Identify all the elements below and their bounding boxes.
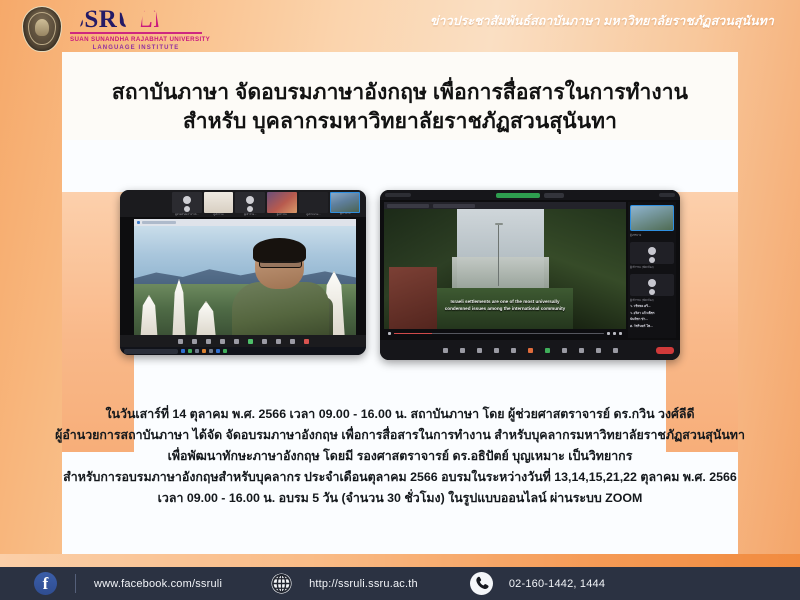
zoom-participant-name: ผู้บรรยาย (331, 212, 359, 218)
poster-title-line-2: สำหรับ บุคลากรมหาวิทยาลัยราชภัฏสวนสุนันท… (0, 107, 800, 136)
logo-subtitle-institute: LANGUAGE INSTITUTE (70, 45, 202, 51)
ssru-language-institute-logo: SSRULI SUAN SUNANDHA RAJABHAT UNIVERSITY… (22, 6, 210, 52)
participant-name: ว. วชิรพล ศรี... (630, 304, 674, 309)
end-meeting-icon (304, 339, 309, 344)
poster-title: สถาบันภาษา จัดอบรมภาษาอังกฤษ เพื่อการสื่… (0, 78, 800, 136)
windows-taskbar (120, 347, 366, 355)
stop-share-pill (544, 193, 564, 198)
participant-name: ผู้เข้าร่วม (ปิดกล้อง) (630, 265, 674, 270)
participant-name: ผู้บรรยาย (630, 233, 674, 238)
globe-icon (270, 572, 293, 595)
header-banner-text: ข่าวประชาสัมพันธ์สถาบันภาษา มหาวิทยาลัยร… (430, 12, 774, 31)
zoom-screen-share-screenshot: Israeli settlements are one of the most … (380, 190, 680, 360)
mic-icon (178, 339, 183, 344)
record-icon (262, 339, 267, 344)
logo-wordmark-primary: SSRU (70, 6, 136, 33)
eyeglasses-icon (259, 260, 302, 269)
zoom-meeting-speaker-view-screenshot: ผู้ช่วยศาสตราจารย์... ผู้เข้าร่วม ผู้เข้… (120, 190, 366, 355)
logo-subtitle-university: SUAN SUNANDHA RAJABHAT UNIVERSITY (70, 36, 210, 43)
participant-self-video (630, 205, 674, 231)
footer-website-text: http://ssruli.ssru.ac.th (309, 578, 418, 590)
body-line: ในวันเสาร์ที่ 14 ตุลาคม พ.ศ. 2566 เวลา 0… (8, 404, 792, 425)
video-hillside-town (452, 257, 549, 288)
video-subtitle-line-2: condemned issues among the international… (403, 306, 606, 312)
poster-header: SSRULI SUAN SUNANDHA RAJABHAT UNIVERSITY… (0, 0, 800, 52)
footer-website[interactable]: http://ssruli.ssru.ac.th (270, 567, 418, 600)
participant-tile (630, 274, 674, 296)
settings-icon (613, 332, 616, 335)
footer-facebook-text: www.facebook.com/ssruli (94, 578, 222, 590)
participant-name: ว. อริสา แก้วเพ็ชร (630, 311, 674, 316)
participant-tile (630, 242, 674, 264)
participant-name: ศ. วัชรินทร์ โพ... (630, 324, 674, 329)
zoom-participant-thumb: ผู้เข้าร่วม (204, 192, 234, 213)
logo-wordmark: SSRULI SUAN SUNANDHA RAJABHAT UNIVERSITY… (70, 6, 210, 51)
zoom-participant-thumb: ผู้เข้าร่วม... (235, 192, 265, 213)
zoom-participant-thumb: ผู้เข้าอบรม... (299, 192, 329, 213)
participant-name: นันทิชา ขำ... (630, 317, 674, 322)
taskbar-app-icon (181, 349, 185, 353)
ssru-university-crest-icon (22, 6, 62, 52)
video-icon (192, 339, 197, 344)
taskbar-app-icon (195, 349, 199, 353)
zoom-sharing-banner (380, 190, 680, 200)
whiteboard-icon (613, 348, 618, 353)
security-icon (206, 339, 211, 344)
participants-icon (494, 348, 499, 353)
reactions-icon (596, 348, 601, 353)
taskbar-app-icon (216, 349, 220, 353)
photo-speaker-portrait (232, 240, 330, 335)
zoom-toolbar-share (380, 340, 680, 360)
poster-body-text: ในวันเสาร์ที่ 14 ตุลาคม พ.ศ. 2566 เวลา 0… (0, 404, 800, 509)
chat-icon (234, 339, 239, 344)
share-screen-icon (248, 339, 253, 344)
taskbar-app-icon (188, 349, 192, 353)
body-line: สำหรับการอบรมภาษาอังกฤษสำหรับบุคลากร ประ… (8, 467, 792, 488)
taskbar-app-icon (209, 349, 213, 353)
video-player-controls (384, 329, 626, 338)
footer-gradient-divider (0, 554, 800, 567)
body-line: ผู้อำนวยการสถาบันภาษา ได้จัด จัดอบรมภาษา… (8, 425, 792, 446)
end-meeting-button (656, 347, 674, 354)
shared-video-titlebar (384, 202, 626, 209)
video-brick-wall (389, 267, 437, 329)
participants-icon (220, 339, 225, 344)
logo-wordmark-accent: LI (136, 6, 163, 33)
shared-video-frame: Israeli settlements are one of the most … (384, 209, 626, 329)
zoom-participant-thumb: ผู้ช่วยศาสตราจารย์... (172, 192, 202, 213)
poster-root: SSRULI SUAN SUNANDHA RAJABHAT UNIVERSITY… (0, 0, 800, 600)
shared-window-photo (134, 219, 356, 335)
volume-icon (607, 332, 610, 335)
new-share-icon (545, 348, 550, 353)
play-icon (388, 332, 391, 335)
body-line: เพื่อพัฒนาทักษะภาษาอังกฤษ โดยมี รองศาสตร… (8, 446, 792, 467)
video-icon (460, 348, 465, 353)
shared-window-titlebar (134, 219, 356, 226)
reactions-icon (276, 339, 281, 344)
zoom-gallery-strip: ผู้ช่วยศาสตราจารย์... ผู้เข้าร่วม ผู้เข้… (120, 190, 366, 217)
apps-icon (290, 339, 295, 344)
share-screen-icon (528, 348, 533, 353)
footer-phone-text: 02-160-1442, 1444 (509, 578, 605, 590)
zoom-participant-thumb-active: ผู้บรรยาย (330, 192, 360, 213)
footer-facebook[interactable]: f www.facebook.com/ssruli (34, 567, 222, 600)
zoom-participant-thumb: ผู้เข้าร่วม (267, 192, 297, 213)
zoom-toolbar (120, 335, 366, 347)
phone-icon (470, 572, 493, 595)
taskbar-app-icon (223, 349, 227, 353)
poster-title-line-1: สถาบันภาษา จัดอบรมภาษาอังกฤษ เพื่อการสื่… (112, 81, 688, 104)
footer-phone[interactable]: 02-160-1442, 1444 (470, 567, 605, 600)
video-subtitle: Israeli settlements are one of the most … (403, 299, 606, 312)
taskbar-app-icon (202, 349, 206, 353)
breakout-rooms-icon (579, 348, 584, 353)
security-icon (477, 348, 482, 353)
participant-name: ผู้เข้าร่วม (ปิดกล้อง) (630, 298, 674, 303)
fullscreen-icon (619, 332, 622, 335)
zoom-participant-sidebar: ผู้บรรยาย ผู้เข้าร่วม (ปิดกล้อง) ผู้เข้า… (628, 202, 676, 338)
video-progress-bar (394, 333, 604, 334)
video-street-lamp (498, 223, 499, 285)
facebook-icon: f (34, 572, 57, 595)
chat-icon (511, 348, 516, 353)
taskbar-search-box (124, 349, 178, 354)
sharing-status-pill (496, 193, 540, 198)
mic-icon (443, 348, 448, 353)
logo-underline (70, 32, 202, 34)
shared-video-window: Israeli settlements are one of the most … (384, 202, 626, 338)
poster-footer: f www.facebook.com/ssruli http://ssruli.… (0, 567, 800, 600)
record-icon (562, 348, 567, 353)
footer-divider (75, 574, 76, 593)
body-line: เวลา 09.00 - 16.00 น. อบรม 5 วัน (จำนวน … (8, 488, 792, 509)
screenshot-gallery: ผู้ช่วยศาสตราจารย์... ผู้เข้าร่วม ผู้เข้… (0, 190, 800, 365)
